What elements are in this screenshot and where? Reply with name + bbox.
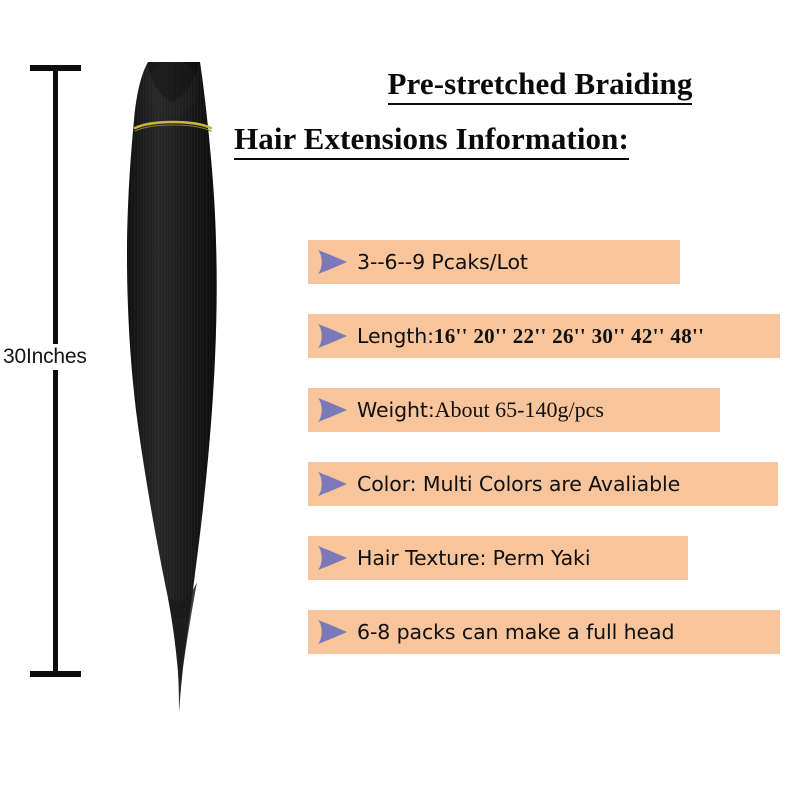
arrow-right-icon <box>316 323 348 349</box>
spec-texture-text: Hair Texture: Perm Yaki <box>357 548 590 569</box>
spec-row-weight: Weight:About 65-140g/pcs <box>308 388 720 432</box>
ruler-bottom-cap <box>30 671 81 677</box>
page-title: Pre-stretched Braiding Hair Extensions I… <box>228 68 800 160</box>
measurement-label: 30Inches <box>2 344 88 370</box>
spec-row-packs: 3--6--9 Pcaks/Lot <box>308 240 680 284</box>
spec-length-value: 16'' 20'' 22'' 26'' 30'' 42'' 48'' <box>434 324 704 348</box>
spec-weight-label: Weight: <box>357 398 435 422</box>
spec-row-texture: Hair Texture: Perm Yaki <box>308 536 688 580</box>
spec-full-head-text: 6-8 packs can make a full head <box>357 622 674 643</box>
arrow-right-icon <box>316 619 348 645</box>
product-infographic: 30Inches <box>0 0 800 800</box>
length-measurement-ruler: 30Inches <box>0 0 120 800</box>
title-line-1: Pre-stretched Braiding <box>228 68 800 105</box>
spec-row-color: Color: Multi Colors are Avaliable <box>308 462 778 506</box>
spec-length-text: Length:16'' 20'' 22'' 26'' 30'' 42'' 48'… <box>357 326 704 347</box>
spec-list: 3--6--9 Pcaks/Lot Length:16'' 20'' 22'' … <box>308 240 800 654</box>
arrow-right-icon <box>316 471 348 497</box>
arrow-right-icon <box>316 545 348 571</box>
spec-length-label: Length: <box>357 324 434 348</box>
title-line-2-text: Hair Extensions Information: <box>234 123 629 160</box>
spec-weight-text: Weight:About 65-140g/pcs <box>357 399 604 421</box>
title-line-2: Hair Extensions Information: <box>228 123 800 160</box>
spec-row-full-head: 6-8 packs can make a full head <box>308 610 780 654</box>
spec-weight-value: About 65-140g/pcs <box>435 397 604 422</box>
ruler-vertical-line <box>53 68 58 676</box>
hair-tip <box>168 582 197 714</box>
arrow-right-icon <box>316 249 348 275</box>
spec-packs-text: 3--6--9 Pcaks/Lot <box>357 252 528 273</box>
spec-color-text: Color: Multi Colors are Avaliable <box>357 474 680 495</box>
spec-row-length: Length:16'' 20'' 22'' 26'' 30'' 42'' 48'… <box>308 314 780 358</box>
title-line-1-text: Pre-stretched Braiding <box>388 68 693 105</box>
arrow-right-icon <box>316 397 348 423</box>
